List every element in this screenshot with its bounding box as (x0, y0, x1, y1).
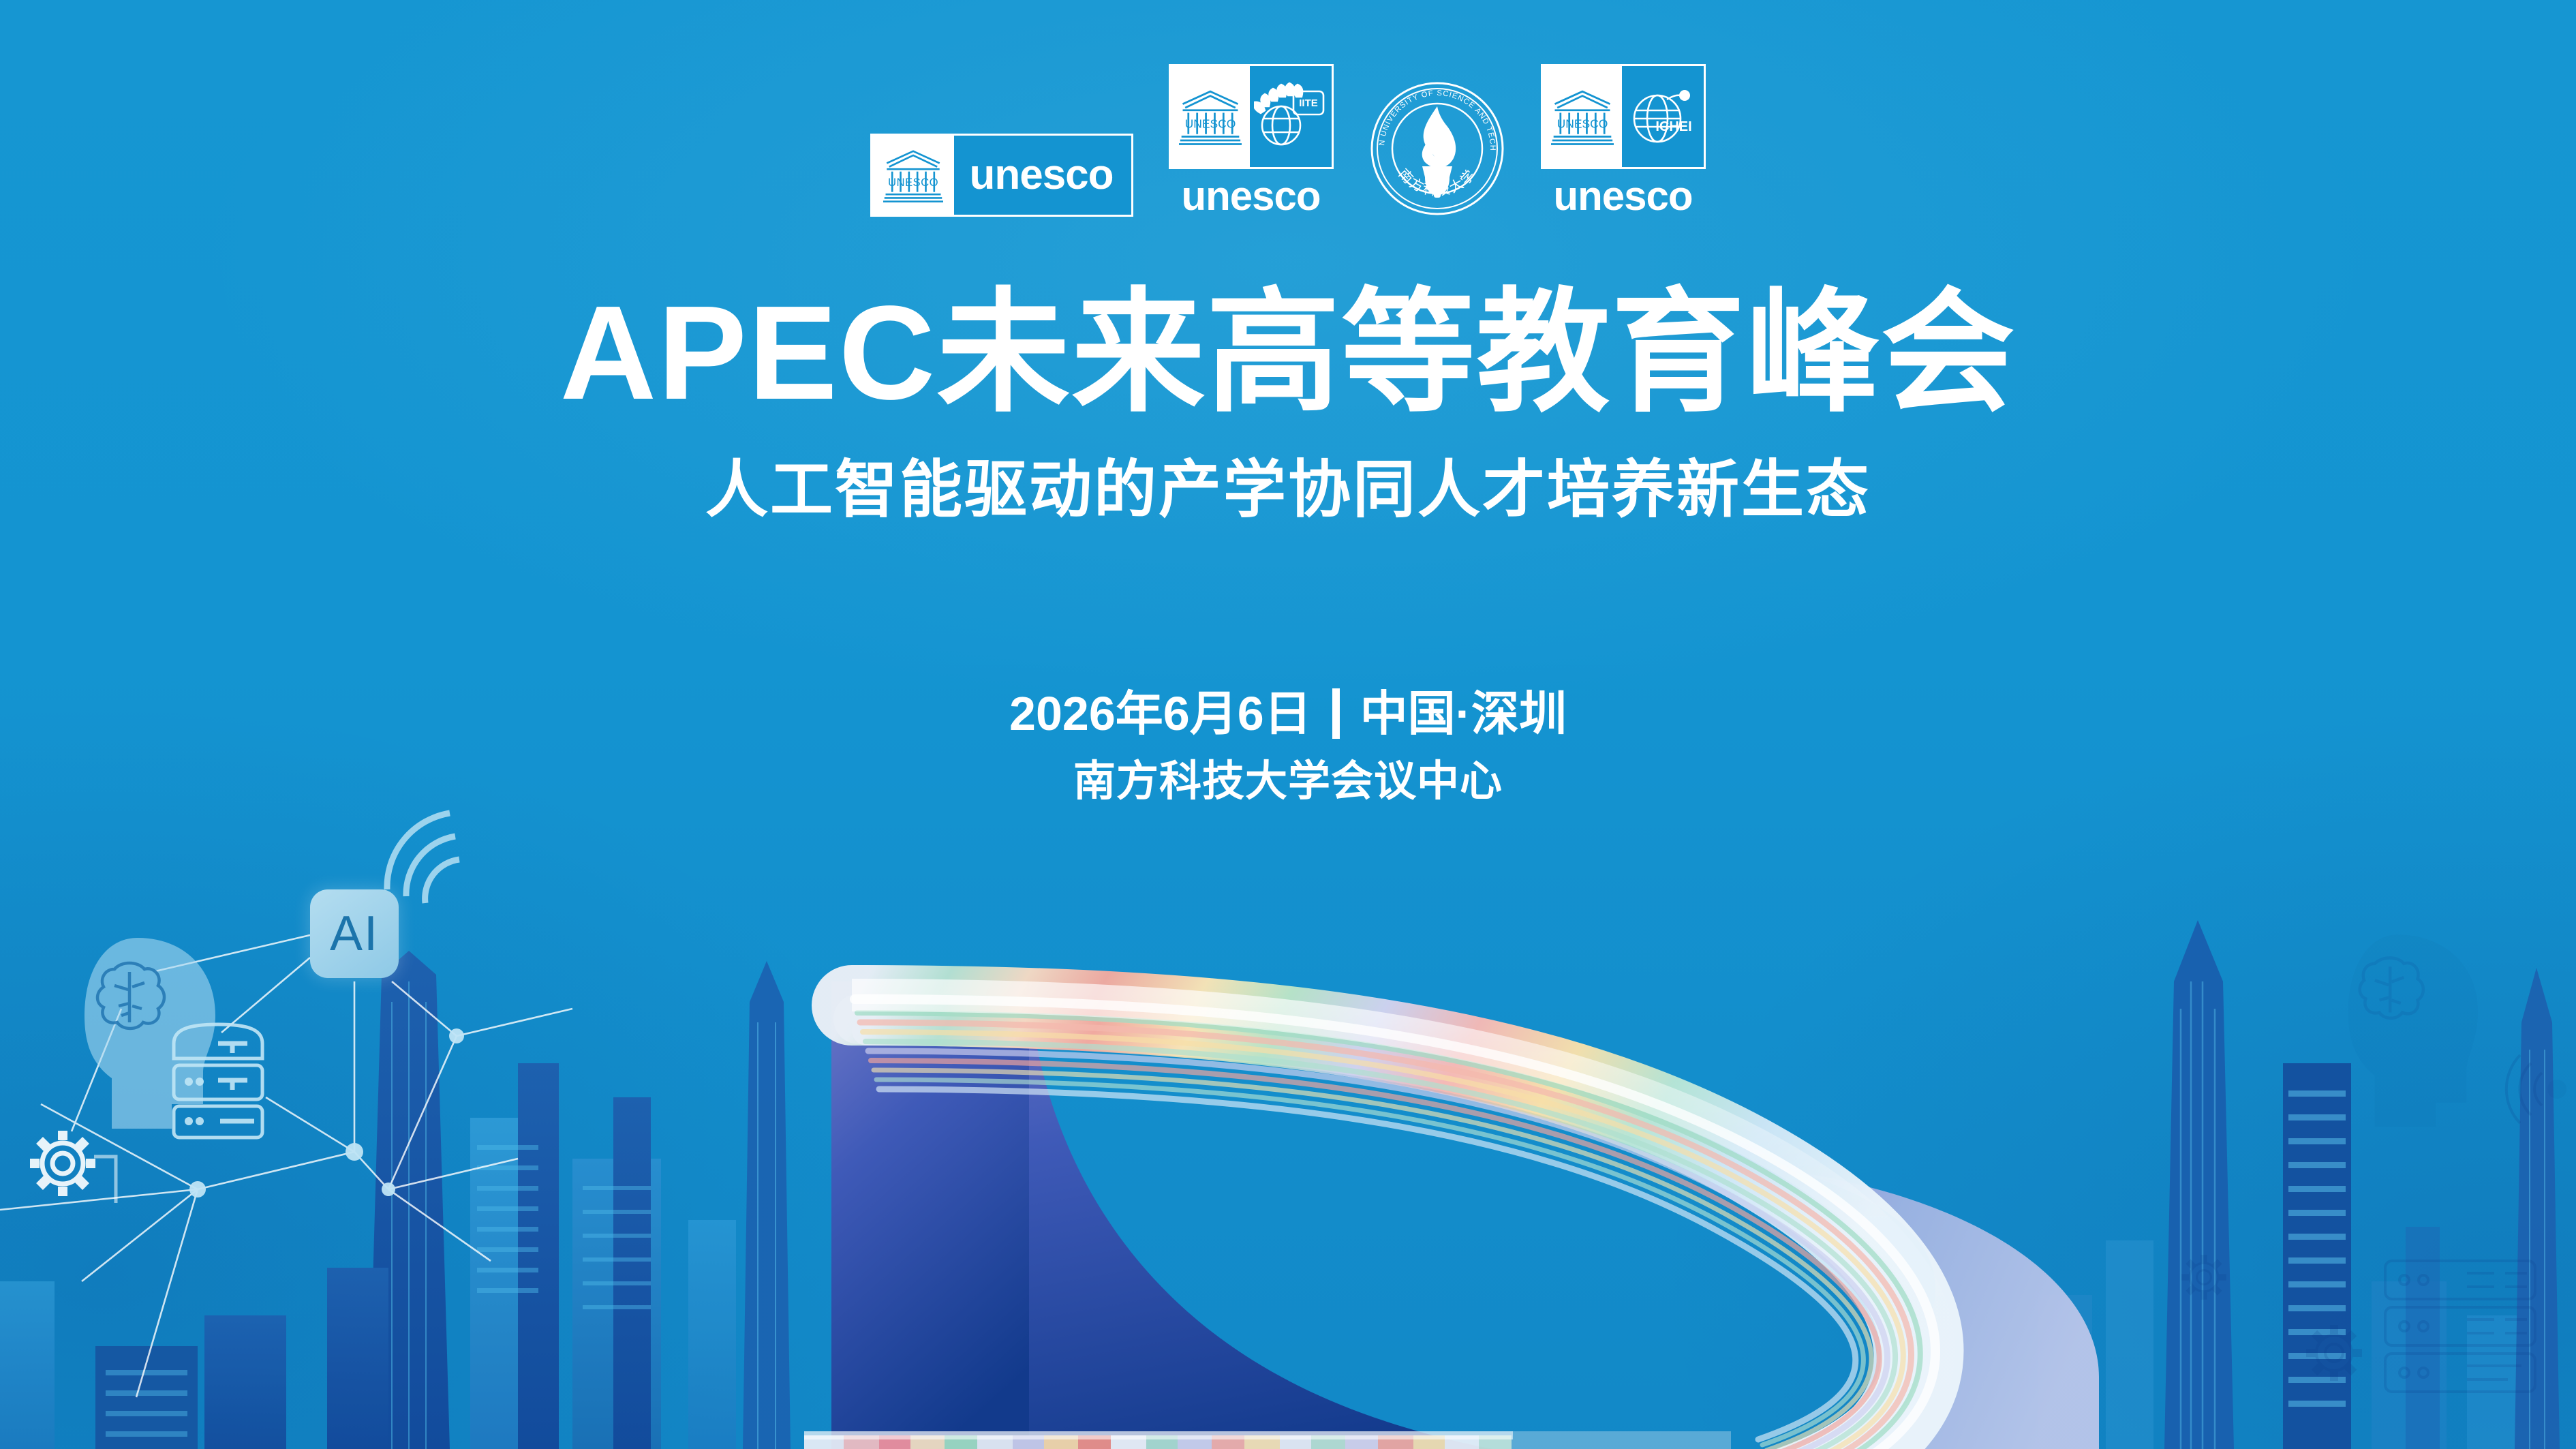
unesco-wordmark-cell: unesco (954, 136, 1131, 215)
unesco-wordmark: unesco (969, 154, 1113, 196)
page-title: APEC未来高等教育峰会 (0, 283, 2576, 423)
ai-chip-badge: AI (310, 889, 399, 978)
unesco-temple-icon: UNESCO (872, 136, 954, 215)
date-location-line: 2026年6月6日 中国·深圳 (0, 688, 2576, 739)
server-stack-icon (2385, 1261, 2535, 1392)
network-lines (0, 935, 572, 1397)
network-nodes (189, 1028, 464, 1198)
conference-banner: AI (0, 0, 2576, 1449)
sustech-seal-emblem: SOUTHERN UNIVERSITY OF SCIENCE AND TECHN… (1369, 80, 1505, 217)
logo-unesco-primary: UNESCO unesco (870, 134, 1133, 217)
event-venue: 南方科技大学会议中心 (0, 761, 2576, 803)
logo-unesco-ichei: UNESCO ICHEI u (1541, 64, 1706, 217)
separator-bar (1332, 688, 1340, 739)
gear-icon (30, 1131, 116, 1203)
event-meta: 2026年6月6日 中国·深圳 南方科技大学会议中心 (0, 688, 2576, 803)
brain-head-icon (2348, 934, 2478, 1127)
brain-head-icon (85, 938, 215, 1129)
svg-text:UNESCO: UNESCO (1184, 117, 1236, 131)
unesco-temple-icon: UNESCO (1171, 66, 1250, 167)
ai-badge-label: AI (330, 909, 379, 958)
iite-emblem: IITE (1250, 66, 1332, 167)
signal-waves-icon (2506, 1055, 2566, 1123)
ichei-emblem: ICHEI (1622, 66, 1704, 167)
svg-text:UNESCO: UNESCO (1557, 117, 1608, 131)
unesco-wordmark: unesco (1182, 176, 1321, 217)
unesco-ichei-box: UNESCO ICHEI (1541, 64, 1706, 169)
page-subtitle: 人工智能驱动的产学协同人才培养新生态 (0, 459, 2576, 521)
logo-row: UNESCO unesco (0, 64, 2576, 217)
event-location: 中国·深圳 (1360, 690, 1567, 737)
iite-code: IITE (1299, 97, 1318, 109)
gear-icon (2306, 1325, 2362, 1381)
logo-sustech-seal: SOUTHERN UNIVERSITY OF SCIENCE AND TECHN… (1369, 80, 1505, 217)
svg-text:UNESCO: UNESCO (888, 176, 938, 189)
unesco-logo-box: UNESCO unesco (870, 134, 1133, 217)
unesco-wordmark: unesco (1554, 176, 1693, 217)
event-date: 2026年6月6日 (1009, 690, 1312, 737)
unesco-iite-box: UNESCO (1169, 64, 1334, 169)
logo-unesco-iite: UNESCO (1169, 64, 1334, 217)
title-block: APEC未来高等教育峰会 人工智能驱动的产学协同人才培养新生态 (0, 283, 2576, 521)
signal-waves-icon (387, 813, 459, 903)
ichei-code: ICHEI (1655, 119, 1691, 134)
unesco-temple-icon: UNESCO (1543, 66, 1622, 167)
rainbow-arc-centerpiece (804, 886, 2222, 1449)
server-stack-icon (174, 1024, 262, 1138)
